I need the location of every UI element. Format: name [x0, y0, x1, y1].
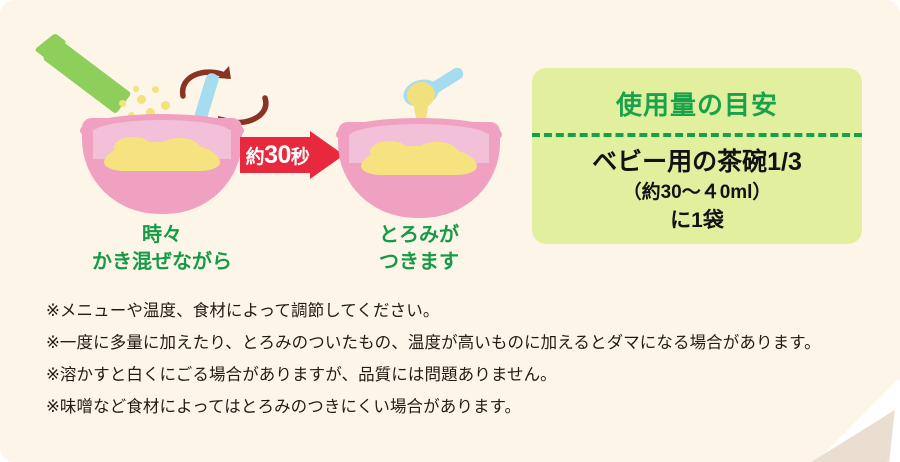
powder-grain-icon — [119, 100, 126, 107]
footnote-item: ※一度に多量に加えたり、とろみのついたもの、温度が高いものに加えるとダマになる場… — [46, 328, 846, 360]
footnote-item: ※溶かすと白くにごる場合がありますが、品質には問題ありません。 — [46, 360, 846, 392]
timer-number: 30 — [264, 141, 291, 170]
dosage-line-2: （約30〜４0ml） — [532, 181, 862, 206]
dosage-panel: 使用量の目安 ベビー用の茶碗1/3 （約30〜４0ml） に1袋 — [532, 68, 862, 244]
step1-caption: 時々 かき混ぜながら — [42, 222, 282, 276]
dosage-panel-body: ベビー用の茶碗1/3 （約30〜４0ml） に1袋 — [532, 146, 862, 234]
powder-grain-icon — [152, 86, 159, 93]
instruction-card: 約30秒 時々 かき混ぜながら とろみが つきます 使用量の目安 ベビー用の茶碗… — [0, 0, 900, 462]
porridge-icon — [104, 142, 219, 171]
step2-caption: とろみが つきます — [300, 222, 538, 276]
powder-grain-icon — [133, 86, 139, 92]
bowl-step2-icon — [338, 122, 500, 218]
footnote-item: ※味噌など食材によってはとろみのつきにくい場合があります。 — [46, 392, 846, 424]
dosage-line-1: ベビー用の茶碗1/3 — [532, 146, 862, 179]
timer-arrow-label: 約30秒 — [240, 137, 315, 173]
timer-arrow: 約30秒 — [240, 131, 350, 179]
timer-prefix: 約 — [246, 142, 265, 169]
footnote-item: ※メニューや温度、食材によって調節してください。 — [46, 296, 846, 328]
bowl-step1-icon — [82, 118, 242, 214]
dosage-panel-title: 使用量の目安 — [532, 85, 862, 122]
dosage-line-3: に1袋 — [532, 207, 862, 234]
preparation-illustration: 約30秒 時々 かき混ぜながら とろみが つきます — [0, 0, 530, 295]
timer-suffix: 秒 — [291, 142, 310, 169]
dosage-panel-divider — [532, 133, 862, 137]
powder-grain-icon — [137, 95, 146, 104]
footnote-list: ※メニューや温度、食材によって調節してください。 ※一度に多量に加えたり、とろみ… — [46, 296, 846, 423]
powder-grain-icon — [161, 101, 170, 110]
